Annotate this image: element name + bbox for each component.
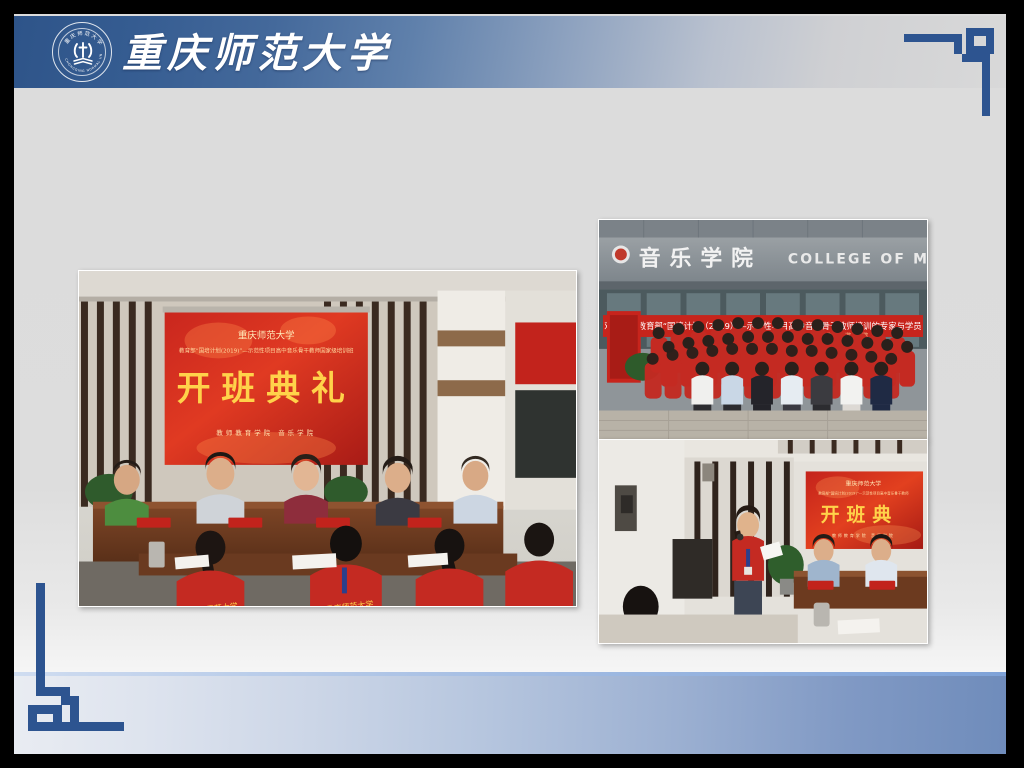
slide-root: 重庆师范大学 CHONGQING NORMAL UNIVERSITY 重庆师范大… [14,14,1006,754]
svg-text:CHONGQING NORMAL UNIVERSITY: CHONGQING NORMAL UNIVERSITY [53,23,103,73]
svg-text:重庆师范大学: 重庆师范大学 [238,329,295,341]
bottom-band [14,676,1006,754]
page-title: 重庆师范大学 [122,28,392,80]
photo-group-photo-college-of-music: 音乐学院 COLLEGE OF MUSIC 欢迎参加教育部“国培计划（2019）… [598,219,928,440]
university-seal-icon: 重庆师范大学 CHONGQING NORMAL UNIVERSITY [52,22,112,82]
corner-ornament-top-right [904,28,1000,125]
slide-header: 重庆师范大学 CHONGQING NORMAL UNIVERSITY 重庆师范大… [14,16,1006,88]
corner-ornament-bottom-left [28,583,128,736]
photo-opening-ceremony-panel: 重庆师范大学 教育部“国培计划(2019)”—示范性项目高中音乐骨干教师国家级培… [78,270,577,607]
svg-text:重庆师范大学: 重庆师范大学 [846,479,882,487]
slide-body: 重庆师范大学 教育部“国培计划(2019)”—示范性项目高中音乐骨干教师国家级培… [14,88,1006,754]
svg-text:开班典礼: 开班典礼 [177,368,356,408]
svg-text:COLLEGE OF MUSIC: COLLEGE OF MUSIC [788,251,927,267]
svg-text:教师教育学院 音乐学院: 教师教育学院 音乐学院 [216,428,316,437]
svg-text:教育部“国培计划(2019)”—示范性项目高中音乐骨干教师: 教育部“国培计划(2019)”—示范性项目高中音乐骨干教师 [818,490,909,495]
svg-text:音乐学院: 音乐学院 [639,245,762,271]
svg-text:教育部“国培计划(2019)”—示范性项目高中音乐骨干教师国: 教育部“国培计划(2019)”—示范性项目高中音乐骨干教师国家级培训班 [179,346,354,354]
svg-text:开班典: 开班典 [821,503,899,526]
photo-host-speaking: 重庆师范大学 教育部“国培计划(2019)”—示范性项目高中音乐骨干教师 开班典… [598,439,928,644]
